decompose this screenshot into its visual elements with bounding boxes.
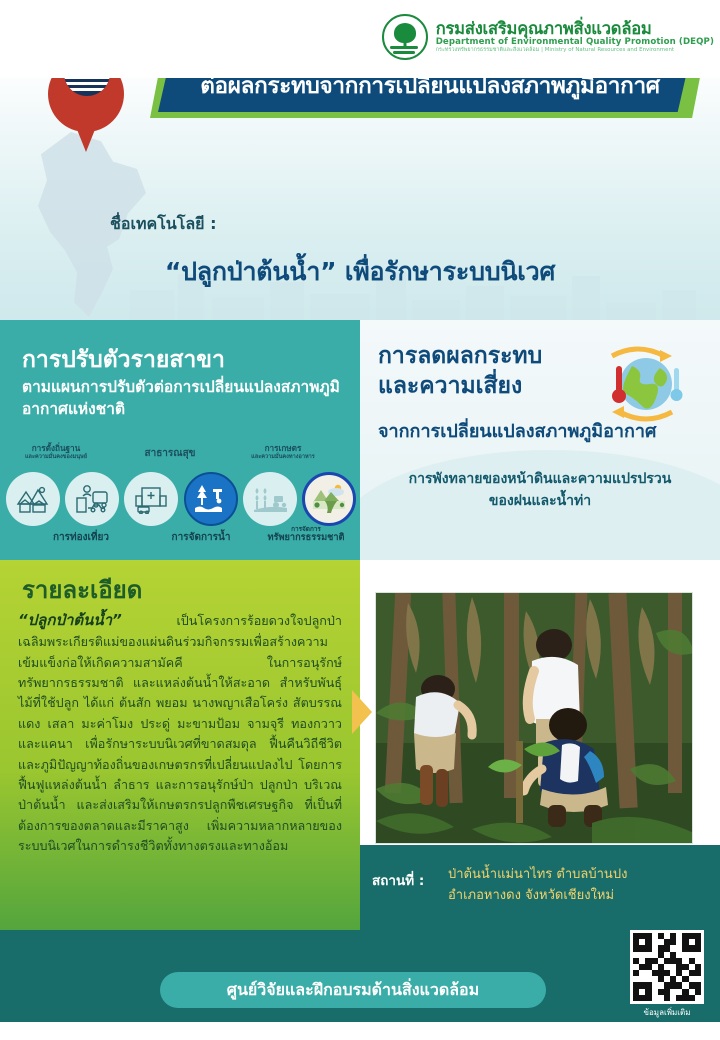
technology-label: ชื่อเทคโนโลยี : (110, 212, 216, 237)
water-management-icon[interactable] (184, 472, 238, 526)
tree-water-seal-icon (382, 14, 428, 60)
ministry-line: กระทรวงทรัพยากรธรรมชาติและสิ่งแวดล้อม | … (436, 48, 714, 54)
sector-label-public-health: สาธารณสุข (124, 448, 216, 460)
details-heading: รายละเอียด (22, 570, 142, 609)
agriculture-icon[interactable] (243, 472, 297, 526)
details-panel: รายละเอียด “ปลูกป่าต้นน้ำ” เป็นโครงการร้… (0, 560, 360, 945)
deqp-logo: กรมส่งเสริมคุณภาพสิ่งแวดล้อม Department … (382, 14, 714, 60)
details-body: “ปลูกป่าต้นน้ำ” เป็นโครงการร้อยดวงใจปลูก… (18, 608, 342, 857)
details-lead: “ปลูกป่าต้นน้ำ” (18, 611, 122, 629)
sector-label-natural-resources: การจัดการ ทรัพยากรธรรมชาติ (256, 526, 356, 544)
location-value: ป่าต้นน้ำแม่นาไทร ตำบลบ้านปง อำเภอหางดง … (448, 865, 648, 907)
org-name-thai: กรมส่งเสริมคุณภาพสิ่งแวดล้อม (436, 20, 714, 37)
mitigation-risk-panel: การลดผลกระทบ และความเสี่ยง จากการเปลี่ยน… (360, 320, 720, 560)
public-health-icon[interactable] (124, 472, 178, 526)
sector-label-agriculture: การเกษตร และความมั่นคงทางอาหาร (228, 444, 338, 461)
technology-name: “ปลูกป่าต้นน้ำ” เพื่อรักษาระบบนิเวศ (0, 252, 720, 292)
tourism-icon[interactable] (65, 472, 119, 526)
adaptation-sectors-panel: การปรับตัวรายสาขา ตามแผนการปรับตัวต่อการ… (0, 320, 360, 560)
sector-label-water: การจัดการน้ำ (160, 532, 242, 544)
natural-resources-icon[interactable] (302, 472, 356, 526)
mitigation-body: การพังทลายของหน้าดินและความแปรปรวน ของฝน… (360, 468, 720, 513)
pointer-arrow-icon (352, 690, 372, 734)
qr-caption: ข้อมูลเพิ่มเติม (630, 1006, 704, 1019)
children-planting-tree-photo (375, 592, 693, 844)
sector-label-tourism: การท่องเที่ยว (36, 532, 126, 544)
poster-header: กรมส่งเสริมคุณภาพสิ่งแวดล้อม Department … (0, 0, 720, 78)
qr-code-icon[interactable] (630, 930, 704, 1004)
settlement-icon[interactable] (6, 472, 60, 526)
adaptation-subheading: ตามแผนการปรับตัวต่อการเปลี่ยนแปลงสภาพภูม… (22, 376, 347, 421)
org-name-english: Department of Environmental Quality Prom… (436, 38, 714, 47)
bottom-margin (0, 1022, 720, 1040)
sector-icon-row (6, 470, 356, 528)
qr-code-block[interactable]: ข้อมูลเพิ่มเติม (630, 930, 704, 1020)
poster-footer: ศูนย์วิจัยและฝึกอบรมด้านสิ่งแวดล้อม ข้อม… (0, 960, 720, 1022)
details-text: เป็นโครงการร้อยดวงใจปลูกป่าเฉลิมพระเกียร… (18, 613, 342, 853)
adaptation-heading: การปรับตัวรายสาขา (22, 342, 225, 378)
mitigation-heading: การลดผลกระทบ และความเสี่ยง (378, 342, 542, 402)
center-name: ศูนย์วิจัยและฝึกอบรมด้านสิ่งแวดล้อม (227, 978, 479, 1003)
sector-label-settlement: การตั้งถิ่นฐาน และความมั่นคงของมนุษย์ (4, 444, 108, 461)
infographic-poster: กรมส่งเสริมคุณภาพสิ่งแวดล้อม Department … (0, 0, 720, 1040)
center-name-pill[interactable]: ศูนย์วิจัยและฝึกอบรมด้านสิ่งแวดล้อม (160, 972, 546, 1008)
globe-thermometer-icon (594, 342, 690, 426)
details-footer-strip (0, 930, 360, 960)
technology-name-section: ชื่อเทคโนโลยี : “ปลูกป่าต้นน้ำ” เพื่อรัก… (0, 200, 720, 312)
location-label: สถานที่ : (372, 869, 424, 891)
